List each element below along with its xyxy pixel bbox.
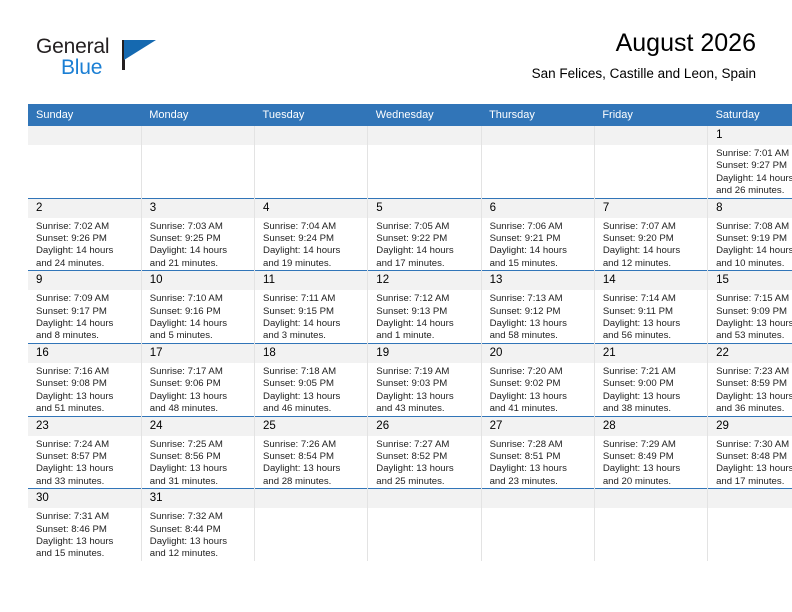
calendar-day-cell-empty <box>141 126 254 198</box>
sun-info: Sunrise: 7:04 AMSunset: 9:24 PMDaylight:… <box>255 218 367 271</box>
sun-info: Sunrise: 7:18 AMSunset: 9:05 PMDaylight:… <box>255 363 367 416</box>
calendar-body: 1Sunrise: 7:01 AMSunset: 9:27 PMDaylight… <box>28 126 792 561</box>
sun-info: Sunrise: 7:17 AMSunset: 9:06 PMDaylight:… <box>142 363 254 416</box>
sunset-text: Sunset: 9:24 PM <box>263 233 361 245</box>
day-number: 22 <box>708 344 792 363</box>
daylight-text-line2: and 58 minutes. <box>490 330 588 342</box>
sunrise-text: Sunrise: 7:29 AM <box>603 439 701 451</box>
day-number: 26 <box>368 417 480 436</box>
daylight-text-line1: Daylight: 13 hours <box>716 463 792 475</box>
sunrise-text: Sunrise: 7:06 AM <box>490 221 588 233</box>
sunset-text: Sunset: 8:57 PM <box>36 451 135 463</box>
calendar-week-row: 9Sunrise: 7:09 AMSunset: 9:17 PMDaylight… <box>28 271 792 344</box>
day-number <box>482 489 594 508</box>
calendar-day-cell[interactable]: 24Sunrise: 7:25 AMSunset: 8:56 PMDayligh… <box>141 416 254 489</box>
daylight-text-line1: Daylight: 13 hours <box>490 463 588 475</box>
daylight-text-line1: Daylight: 14 hours <box>376 245 474 257</box>
calendar-day-cell[interactable]: 26Sunrise: 7:27 AMSunset: 8:52 PMDayligh… <box>368 416 481 489</box>
sunset-text: Sunset: 8:52 PM <box>376 451 474 463</box>
calendar-week-row: 2Sunrise: 7:02 AMSunset: 9:26 PMDaylight… <box>28 198 792 271</box>
day-number: 27 <box>482 417 594 436</box>
daylight-text-line1: Daylight: 14 hours <box>150 318 248 330</box>
sunrise-text: Sunrise: 7:10 AM <box>150 293 248 305</box>
calendar-day-cell-empty <box>368 126 481 198</box>
day-number: 30 <box>28 489 141 508</box>
sun-info: Sunrise: 7:20 AMSunset: 9:02 PMDaylight:… <box>482 363 594 416</box>
daylight-text-line1: Daylight: 14 hours <box>36 318 135 330</box>
sun-info: Sunrise: 7:11 AMSunset: 9:15 PMDaylight:… <box>255 290 367 343</box>
sun-info: Sunrise: 7:23 AMSunset: 8:59 PMDaylight:… <box>708 363 792 416</box>
daylight-text-line2: and 15 minutes. <box>36 548 135 560</box>
daylight-text-line2: and 25 minutes. <box>376 476 474 488</box>
daylight-text-line2: and 24 minutes. <box>36 258 135 270</box>
calendar-day-cell[interactable]: 28Sunrise: 7:29 AMSunset: 8:49 PMDayligh… <box>594 416 707 489</box>
daylight-text-line1: Daylight: 14 hours <box>263 245 361 257</box>
daylight-text-line2: and 23 minutes. <box>490 476 588 488</box>
sunrise-text: Sunrise: 7:09 AM <box>36 293 135 305</box>
calendar-day-cell-empty <box>594 489 707 561</box>
sunrise-text: Sunrise: 7:30 AM <box>716 439 792 451</box>
day-number: 18 <box>255 344 367 363</box>
day-number: 8 <box>708 199 792 218</box>
day-number <box>142 126 254 145</box>
daylight-text-line2: and 43 minutes. <box>376 403 474 415</box>
sunset-text: Sunset: 8:56 PM <box>150 451 248 463</box>
daylight-text-line1: Daylight: 13 hours <box>150 536 248 548</box>
calendar-day-cell[interactable]: 16Sunrise: 7:16 AMSunset: 9:08 PMDayligh… <box>28 343 141 416</box>
weekday-header-saturday: Saturday <box>708 104 792 126</box>
day-number: 3 <box>142 199 254 218</box>
calendar-day-cell-empty <box>368 489 481 561</box>
daylight-text-line1: Daylight: 13 hours <box>150 463 248 475</box>
day-number: 24 <box>142 417 254 436</box>
sun-info: Sunrise: 7:30 AMSunset: 8:48 PMDaylight:… <box>708 436 792 489</box>
sunrise-text: Sunrise: 7:31 AM <box>36 511 135 523</box>
weekday-header-monday: Monday <box>141 104 254 126</box>
sunset-text: Sunset: 9:19 PM <box>716 233 792 245</box>
calendar-day-cell[interactable]: 11Sunrise: 7:11 AMSunset: 9:15 PMDayligh… <box>255 271 368 344</box>
calendar-head: Sunday Monday Tuesday Wednesday Thursday… <box>28 104 792 126</box>
daylight-text-line2: and 1 minute. <box>376 330 474 342</box>
calendar-day-cell[interactable]: 18Sunrise: 7:18 AMSunset: 9:05 PMDayligh… <box>255 343 368 416</box>
calendar-day-cell[interactable]: 25Sunrise: 7:26 AMSunset: 8:54 PMDayligh… <box>255 416 368 489</box>
sun-info: Sunrise: 7:28 AMSunset: 8:51 PMDaylight:… <box>482 436 594 489</box>
sunset-text: Sunset: 9:00 PM <box>603 378 701 390</box>
day-number: 28 <box>595 417 707 436</box>
calendar-day-cell[interactable]: 29Sunrise: 7:30 AMSunset: 8:48 PMDayligh… <box>708 416 792 489</box>
calendar-week-row: 30Sunrise: 7:31 AMSunset: 8:46 PMDayligh… <box>28 489 792 561</box>
daylight-text-line1: Daylight: 13 hours <box>603 391 701 403</box>
daylight-text-line1: Daylight: 14 hours <box>716 245 792 257</box>
daylight-text-line2: and 8 minutes. <box>36 330 135 342</box>
day-number <box>255 489 367 508</box>
calendar-day-cell[interactable]: 4Sunrise: 7:04 AMSunset: 9:24 PMDaylight… <box>255 198 368 271</box>
daylight-text-line2: and 28 minutes. <box>263 476 361 488</box>
sun-info: Sunrise: 7:03 AMSunset: 9:25 PMDaylight:… <box>142 218 254 271</box>
day-number: 13 <box>482 271 594 290</box>
daylight-text-line2: and 19 minutes. <box>263 258 361 270</box>
daylight-text-line2: and 20 minutes. <box>603 476 701 488</box>
weekday-header-friday: Friday <box>594 104 707 126</box>
daylight-text-line2: and 38 minutes. <box>603 403 701 415</box>
calendar-day-cell[interactable]: 8Sunrise: 7:08 AMSunset: 9:19 PMDaylight… <box>708 198 792 271</box>
calendar-day-cell-empty <box>255 126 368 198</box>
sunset-text: Sunset: 8:46 PM <box>36 524 135 536</box>
daylight-text-line2: and 33 minutes. <box>36 476 135 488</box>
day-number: 9 <box>28 271 141 290</box>
daylight-text-line1: Daylight: 13 hours <box>263 391 361 403</box>
daylight-text-line2: and 31 minutes. <box>150 476 248 488</box>
sunset-text: Sunset: 9:15 PM <box>263 306 361 318</box>
logo-text-general: General <box>36 36 186 58</box>
calendar-day-cell[interactable]: 2Sunrise: 7:02 AMSunset: 9:26 PMDaylight… <box>28 198 141 271</box>
daylight-text-line2: and 17 minutes. <box>716 476 792 488</box>
daylight-text-line2: and 15 minutes. <box>490 258 588 270</box>
daylight-text-line2: and 12 minutes. <box>603 258 701 270</box>
day-number <box>255 126 367 145</box>
calendar-day-cell[interactable]: 5Sunrise: 7:05 AMSunset: 9:22 PMDaylight… <box>368 198 481 271</box>
page-subtitle: San Felices, Castille and Leon, Spain <box>532 64 756 84</box>
sunset-text: Sunset: 9:08 PM <box>36 378 135 390</box>
calendar-day-cell[interactable]: 22Sunrise: 7:23 AMSunset: 8:59 PMDayligh… <box>708 343 792 416</box>
sunrise-text: Sunrise: 7:07 AM <box>603 221 701 233</box>
daylight-text-line2: and 12 minutes. <box>150 548 248 560</box>
sunset-text: Sunset: 8:44 PM <box>150 524 248 536</box>
calendar-week-row: 1Sunrise: 7:01 AMSunset: 9:27 PMDaylight… <box>28 126 792 198</box>
daylight-text-line2: and 41 minutes. <box>490 403 588 415</box>
sunset-text: Sunset: 9:20 PM <box>603 233 701 245</box>
sun-info: Sunrise: 7:29 AMSunset: 8:49 PMDaylight:… <box>595 436 707 489</box>
sun-info: Sunrise: 7:08 AMSunset: 9:19 PMDaylight:… <box>708 218 792 271</box>
daylight-text-line1: Daylight: 13 hours <box>376 463 474 475</box>
sunrise-text: Sunrise: 7:18 AM <box>263 366 361 378</box>
day-number: 10 <box>142 271 254 290</box>
daylight-text-line2: and 10 minutes. <box>716 258 792 270</box>
sunset-text: Sunset: 8:59 PM <box>716 378 792 390</box>
calendar-day-cell[interactable]: 23Sunrise: 7:24 AMSunset: 8:57 PMDayligh… <box>28 416 141 489</box>
calendar-day-cell-empty <box>708 489 792 561</box>
weekday-header-row: Sunday Monday Tuesday Wednesday Thursday… <box>28 104 792 126</box>
sun-info: Sunrise: 7:26 AMSunset: 8:54 PMDaylight:… <box>255 436 367 489</box>
sun-info: Sunrise: 7:06 AMSunset: 9:21 PMDaylight:… <box>482 218 594 271</box>
daylight-text-line1: Daylight: 13 hours <box>36 391 135 403</box>
daylight-text-line2: and 3 minutes. <box>263 330 361 342</box>
sunrise-text: Sunrise: 7:11 AM <box>263 293 361 305</box>
calendar-page: General Blue August 2026 San Felices, Ca… <box>0 0 792 612</box>
calendar-day-cell[interactable]: 15Sunrise: 7:15 AMSunset: 9:09 PMDayligh… <box>708 271 792 344</box>
day-number <box>595 126 707 145</box>
daylight-text-line1: Daylight: 13 hours <box>716 391 792 403</box>
day-number: 2 <box>28 199 141 218</box>
day-number: 1 <box>708 126 792 145</box>
day-number: 7 <box>595 199 707 218</box>
sun-info: Sunrise: 7:25 AMSunset: 8:56 PMDaylight:… <box>142 436 254 489</box>
sunrise-text: Sunrise: 7:16 AM <box>36 366 135 378</box>
sunset-text: Sunset: 9:16 PM <box>150 306 248 318</box>
sun-info: Sunrise: 7:24 AMSunset: 8:57 PMDaylight:… <box>28 436 141 489</box>
daylight-text-line2: and 5 minutes. <box>150 330 248 342</box>
sunset-text: Sunset: 9:13 PM <box>376 306 474 318</box>
day-number: 31 <box>142 489 254 508</box>
page-title: August 2026 <box>532 28 756 58</box>
daylight-text-line1: Daylight: 13 hours <box>603 463 701 475</box>
daylight-text-line1: Daylight: 13 hours <box>376 391 474 403</box>
sunset-text: Sunset: 9:11 PM <box>603 306 701 318</box>
sunrise-text: Sunrise: 7:13 AM <box>490 293 588 305</box>
sun-info: Sunrise: 7:10 AMSunset: 9:16 PMDaylight:… <box>142 290 254 343</box>
sun-info: Sunrise: 7:21 AMSunset: 9:00 PMDaylight:… <box>595 363 707 416</box>
sun-info: Sunrise: 7:15 AMSunset: 9:09 PMDaylight:… <box>708 290 792 343</box>
sunrise-text: Sunrise: 7:14 AM <box>603 293 701 305</box>
day-number: 29 <box>708 417 792 436</box>
calendar-day-cell[interactable]: 31Sunrise: 7:32 AMSunset: 8:44 PMDayligh… <box>141 489 254 561</box>
calendar-day-cell[interactable]: 14Sunrise: 7:14 AMSunset: 9:11 PMDayligh… <box>594 271 707 344</box>
sunrise-text: Sunrise: 7:23 AM <box>716 366 792 378</box>
calendar-day-cell-empty <box>255 489 368 561</box>
sunset-text: Sunset: 9:22 PM <box>376 233 474 245</box>
sunset-text: Sunset: 9:12 PM <box>490 306 588 318</box>
weekday-header-sunday: Sunday <box>28 104 141 126</box>
day-number: 19 <box>368 344 480 363</box>
day-number: 23 <box>28 417 141 436</box>
daylight-text-line2: and 53 minutes. <box>716 330 792 342</box>
calendar-grid: Sunday Monday Tuesday Wednesday Thursday… <box>28 104 765 561</box>
sun-info: Sunrise: 7:07 AMSunset: 9:20 PMDaylight:… <box>595 218 707 271</box>
calendar-day-cell[interactable]: 21Sunrise: 7:21 AMSunset: 9:00 PMDayligh… <box>594 343 707 416</box>
calendar-day-cell[interactable]: 30Sunrise: 7:31 AMSunset: 8:46 PMDayligh… <box>28 489 141 561</box>
day-number: 12 <box>368 271 480 290</box>
sunset-text: Sunset: 9:02 PM <box>490 378 588 390</box>
calendar-day-cell[interactable]: 3Sunrise: 7:03 AMSunset: 9:25 PMDaylight… <box>141 198 254 271</box>
sunset-text: Sunset: 9:05 PM <box>263 378 361 390</box>
sun-info: Sunrise: 7:02 AMSunset: 9:26 PMDaylight:… <box>28 218 141 271</box>
sun-info: Sunrise: 7:27 AMSunset: 8:52 PMDaylight:… <box>368 436 480 489</box>
sun-info: Sunrise: 7:31 AMSunset: 8:46 PMDaylight:… <box>28 508 141 561</box>
sunrise-text: Sunrise: 7:12 AM <box>376 293 474 305</box>
weekday-header-tuesday: Tuesday <box>255 104 368 126</box>
sun-info: Sunrise: 7:13 AMSunset: 9:12 PMDaylight:… <box>482 290 594 343</box>
title-block: August 2026 San Felices, Castille and Le… <box>532 26 756 84</box>
day-number <box>482 126 594 145</box>
daylight-text-line1: Daylight: 14 hours <box>36 245 135 257</box>
day-number: 5 <box>368 199 480 218</box>
day-number: 15 <box>708 271 792 290</box>
sun-info: Sunrise: 7:01 AMSunset: 9:27 PMDaylight:… <box>708 145 792 198</box>
day-number <box>708 489 792 508</box>
day-number: 20 <box>482 344 594 363</box>
daylight-text-line2: and 21 minutes. <box>150 258 248 270</box>
sunset-text: Sunset: 8:48 PM <box>716 451 792 463</box>
day-number: 11 <box>255 271 367 290</box>
sunset-text: Sunset: 8:54 PM <box>263 451 361 463</box>
sun-info: Sunrise: 7:12 AMSunset: 9:13 PMDaylight:… <box>368 290 480 343</box>
calendar-day-cell[interactable]: 10Sunrise: 7:10 AMSunset: 9:16 PMDayligh… <box>141 271 254 344</box>
calendar-day-cell[interactable]: 20Sunrise: 7:20 AMSunset: 9:02 PMDayligh… <box>481 343 594 416</box>
sunrise-text: Sunrise: 7:03 AM <box>150 221 248 233</box>
daylight-text-line2: and 17 minutes. <box>376 258 474 270</box>
general-blue-logo[interactable]: General Blue <box>36 26 186 78</box>
day-number: 25 <box>255 417 367 436</box>
sunset-text: Sunset: 9:17 PM <box>36 306 135 318</box>
sun-info: Sunrise: 7:09 AMSunset: 9:17 PMDaylight:… <box>28 290 141 343</box>
sunrise-text: Sunrise: 7:32 AM <box>150 511 248 523</box>
sunrise-text: Sunrise: 7:24 AM <box>36 439 135 451</box>
daylight-text-line2: and 48 minutes. <box>150 403 248 415</box>
sunrise-text: Sunrise: 7:20 AM <box>490 366 588 378</box>
sunset-text: Sunset: 8:49 PM <box>603 451 701 463</box>
sunset-text: Sunset: 9:06 PM <box>150 378 248 390</box>
daylight-text-line1: Daylight: 13 hours <box>490 391 588 403</box>
daylight-text-line1: Daylight: 13 hours <box>716 318 792 330</box>
daylight-text-line1: Daylight: 14 hours <box>263 318 361 330</box>
sunrise-text: Sunrise: 7:25 AM <box>150 439 248 451</box>
day-number: 17 <box>142 344 254 363</box>
daylight-text-line2: and 46 minutes. <box>263 403 361 415</box>
calendar-week-row: 16Sunrise: 7:16 AMSunset: 9:08 PMDayligh… <box>28 343 792 416</box>
calendar-day-cell[interactable]: 17Sunrise: 7:17 AMSunset: 9:06 PMDayligh… <box>141 343 254 416</box>
sunrise-text: Sunrise: 7:19 AM <box>376 366 474 378</box>
weekday-header-wednesday: Wednesday <box>368 104 481 126</box>
daylight-text-line1: Daylight: 14 hours <box>376 318 474 330</box>
sun-info: Sunrise: 7:16 AMSunset: 9:08 PMDaylight:… <box>28 363 141 416</box>
daylight-text-line1: Daylight: 13 hours <box>490 318 588 330</box>
sunrise-text: Sunrise: 7:05 AM <box>376 221 474 233</box>
sunrise-text: Sunrise: 7:15 AM <box>716 293 792 305</box>
sun-info: Sunrise: 7:32 AMSunset: 8:44 PMDaylight:… <box>142 508 254 561</box>
sunrise-text: Sunrise: 7:01 AM <box>716 148 792 160</box>
daylight-text-line1: Daylight: 13 hours <box>603 318 701 330</box>
day-number <box>368 126 480 145</box>
daylight-text-line1: Daylight: 13 hours <box>263 463 361 475</box>
sunrise-text: Sunrise: 7:27 AM <box>376 439 474 451</box>
daylight-text-line2: and 51 minutes. <box>36 403 135 415</box>
sunrise-text: Sunrise: 7:28 AM <box>490 439 588 451</box>
calendar-day-cell[interactable]: 6Sunrise: 7:06 AMSunset: 9:21 PMDaylight… <box>481 198 594 271</box>
calendar-day-cell-empty <box>594 126 707 198</box>
sunrise-text: Sunrise: 7:21 AM <box>603 366 701 378</box>
logo-triangle-icon <box>124 40 156 60</box>
daylight-text-line1: Daylight: 14 hours <box>150 245 248 257</box>
daylight-text-line2: and 56 minutes. <box>603 330 701 342</box>
calendar-table: Sunday Monday Tuesday Wednesday Thursday… <box>28 104 792 561</box>
day-number: 21 <box>595 344 707 363</box>
daylight-text-line1: Daylight: 13 hours <box>36 536 135 548</box>
calendar-day-cell[interactable]: 1Sunrise: 7:01 AMSunset: 9:27 PMDaylight… <box>708 126 792 198</box>
daylight-text-line1: Daylight: 14 hours <box>603 245 701 257</box>
sunset-text: Sunset: 8:51 PM <box>490 451 588 463</box>
sunrise-text: Sunrise: 7:08 AM <box>716 221 792 233</box>
sunrise-text: Sunrise: 7:04 AM <box>263 221 361 233</box>
daylight-text-line1: Daylight: 13 hours <box>36 463 135 475</box>
calendar-day-cell[interactable]: 27Sunrise: 7:28 AMSunset: 8:51 PMDayligh… <box>481 416 594 489</box>
sunset-text: Sunset: 9:26 PM <box>36 233 135 245</box>
day-number <box>595 489 707 508</box>
calendar-week-row: 23Sunrise: 7:24 AMSunset: 8:57 PMDayligh… <box>28 416 792 489</box>
sunset-text: Sunset: 9:03 PM <box>376 378 474 390</box>
sunrise-text: Sunrise: 7:17 AM <box>150 366 248 378</box>
daylight-text-line2: and 26 minutes. <box>716 185 792 197</box>
daylight-text-line1: Daylight: 14 hours <box>490 245 588 257</box>
sunset-text: Sunset: 9:09 PM <box>716 306 792 318</box>
daylight-text-line1: Daylight: 13 hours <box>150 391 248 403</box>
sunset-text: Sunset: 9:25 PM <box>150 233 248 245</box>
day-number <box>368 489 480 508</box>
sunset-text: Sunset: 9:21 PM <box>490 233 588 245</box>
day-number <box>28 126 141 145</box>
weekday-header-thursday: Thursday <box>481 104 594 126</box>
calendar-day-cell-empty <box>481 126 594 198</box>
sunrise-text: Sunrise: 7:02 AM <box>36 221 135 233</box>
calendar-day-cell[interactable]: 12Sunrise: 7:12 AMSunset: 9:13 PMDayligh… <box>368 271 481 344</box>
calendar-day-cell[interactable]: 19Sunrise: 7:19 AMSunset: 9:03 PMDayligh… <box>368 343 481 416</box>
daylight-text-line2: and 36 minutes. <box>716 403 792 415</box>
calendar-day-cell-empty <box>481 489 594 561</box>
calendar-day-cell-empty <box>28 126 141 198</box>
sunrise-text: Sunrise: 7:26 AM <box>263 439 361 451</box>
day-number: 6 <box>482 199 594 218</box>
sunset-text: Sunset: 9:27 PM <box>716 160 792 172</box>
calendar-day-cell[interactable]: 7Sunrise: 7:07 AMSunset: 9:20 PMDaylight… <box>594 198 707 271</box>
sun-info: Sunrise: 7:19 AMSunset: 9:03 PMDaylight:… <box>368 363 480 416</box>
sun-info: Sunrise: 7:05 AMSunset: 9:22 PMDaylight:… <box>368 218 480 271</box>
calendar-day-cell[interactable]: 9Sunrise: 7:09 AMSunset: 9:17 PMDaylight… <box>28 271 141 344</box>
sun-info: Sunrise: 7:14 AMSunset: 9:11 PMDaylight:… <box>595 290 707 343</box>
calendar-day-cell[interactable]: 13Sunrise: 7:13 AMSunset: 9:12 PMDayligh… <box>481 271 594 344</box>
daylight-text-line1: Daylight: 14 hours <box>716 173 792 185</box>
day-number: 16 <box>28 344 141 363</box>
page-header: General Blue August 2026 San Felices, Ca… <box>0 0 792 84</box>
day-number: 14 <box>595 271 707 290</box>
day-number: 4 <box>255 199 367 218</box>
